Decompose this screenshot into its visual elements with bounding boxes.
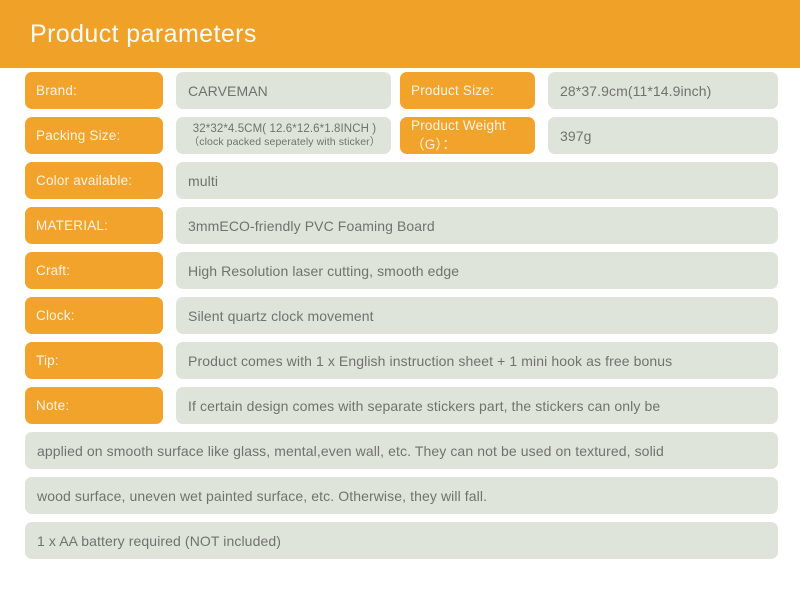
table-row: applied on smooth surface like glass, me… bbox=[0, 428, 800, 473]
row-value-craft: High Resolution laser cutting, smooth ed… bbox=[176, 252, 778, 289]
row-label-note: Note: bbox=[25, 387, 163, 424]
row-label-tip: Tip: bbox=[25, 342, 163, 379]
row-value-color-available: multi bbox=[176, 162, 778, 199]
row-value-tip: Product comes with 1 x English instructi… bbox=[176, 342, 778, 379]
table-row: Color available: multi bbox=[0, 158, 800, 203]
table-row: Brand: CARVEMAN Product Size: 28*37.9cm(… bbox=[0, 68, 800, 113]
row-value-brand: CARVEMAN bbox=[176, 72, 391, 109]
row-label-color-available: Color available: bbox=[25, 162, 163, 199]
table-row: Craft: High Resolution laser cutting, sm… bbox=[0, 248, 800, 293]
note-continuation-line-3: 1 x AA battery required (NOT included) bbox=[25, 522, 778, 559]
table-row: wood surface, uneven wet painted surface… bbox=[0, 473, 800, 518]
row-value-packing-size: 32*32*4.5CM( 12.6*12.6*1.8INCH ) （clock … bbox=[176, 117, 391, 154]
packing-size-line-1: 32*32*4.5CM( 12.6*12.6*1.8INCH ) bbox=[193, 123, 376, 136]
row-value-clock: Silent quartz clock movement bbox=[176, 297, 778, 334]
row-label-material: MATERIAL: bbox=[25, 207, 163, 244]
page-title: Product parameters bbox=[30, 16, 257, 52]
table-row: Note: If certain design comes with separ… bbox=[0, 383, 800, 428]
row-label-product-size: Product Size: bbox=[400, 72, 535, 109]
packing-size-line-2: （clock packed seperately with sticker） bbox=[189, 136, 381, 149]
parameters-table: Brand: CARVEMAN Product Size: 28*37.9cm(… bbox=[0, 68, 800, 563]
table-row: Packing Size: 32*32*4.5CM( 12.6*12.6*1.8… bbox=[0, 113, 800, 158]
row-value-note: If certain design comes with separate st… bbox=[176, 387, 778, 424]
row-label-craft: Craft: bbox=[25, 252, 163, 289]
note-continuation-line-1: applied on smooth surface like glass, me… bbox=[25, 432, 778, 469]
row-label-product-weight: Product Weight（G）： bbox=[400, 117, 535, 154]
table-row: Tip: Product comes with 1 x English inst… bbox=[0, 338, 800, 383]
table-row: MATERIAL: 3mmECO-friendly PVC Foaming Bo… bbox=[0, 203, 800, 248]
row-label-brand: Brand: bbox=[25, 72, 163, 109]
table-row: 1 x AA battery required (NOT included) bbox=[0, 518, 800, 563]
row-value-material: 3mmECO-friendly PVC Foaming Board bbox=[176, 207, 778, 244]
row-value-product-weight: 397g bbox=[548, 117, 778, 154]
page-header-banner: Product parameters bbox=[0, 0, 800, 68]
product-parameters-page: Product parameters Brand: CARVEMAN Produ… bbox=[0, 0, 800, 608]
table-row: Clock: Silent quartz clock movement bbox=[0, 293, 800, 338]
row-value-product-size: 28*37.9cm(11*14.9inch) bbox=[548, 72, 778, 109]
note-continuation-line-2: wood surface, uneven wet painted surface… bbox=[25, 477, 778, 514]
row-label-clock: Clock: bbox=[25, 297, 163, 334]
row-label-packing-size: Packing Size: bbox=[25, 117, 163, 154]
